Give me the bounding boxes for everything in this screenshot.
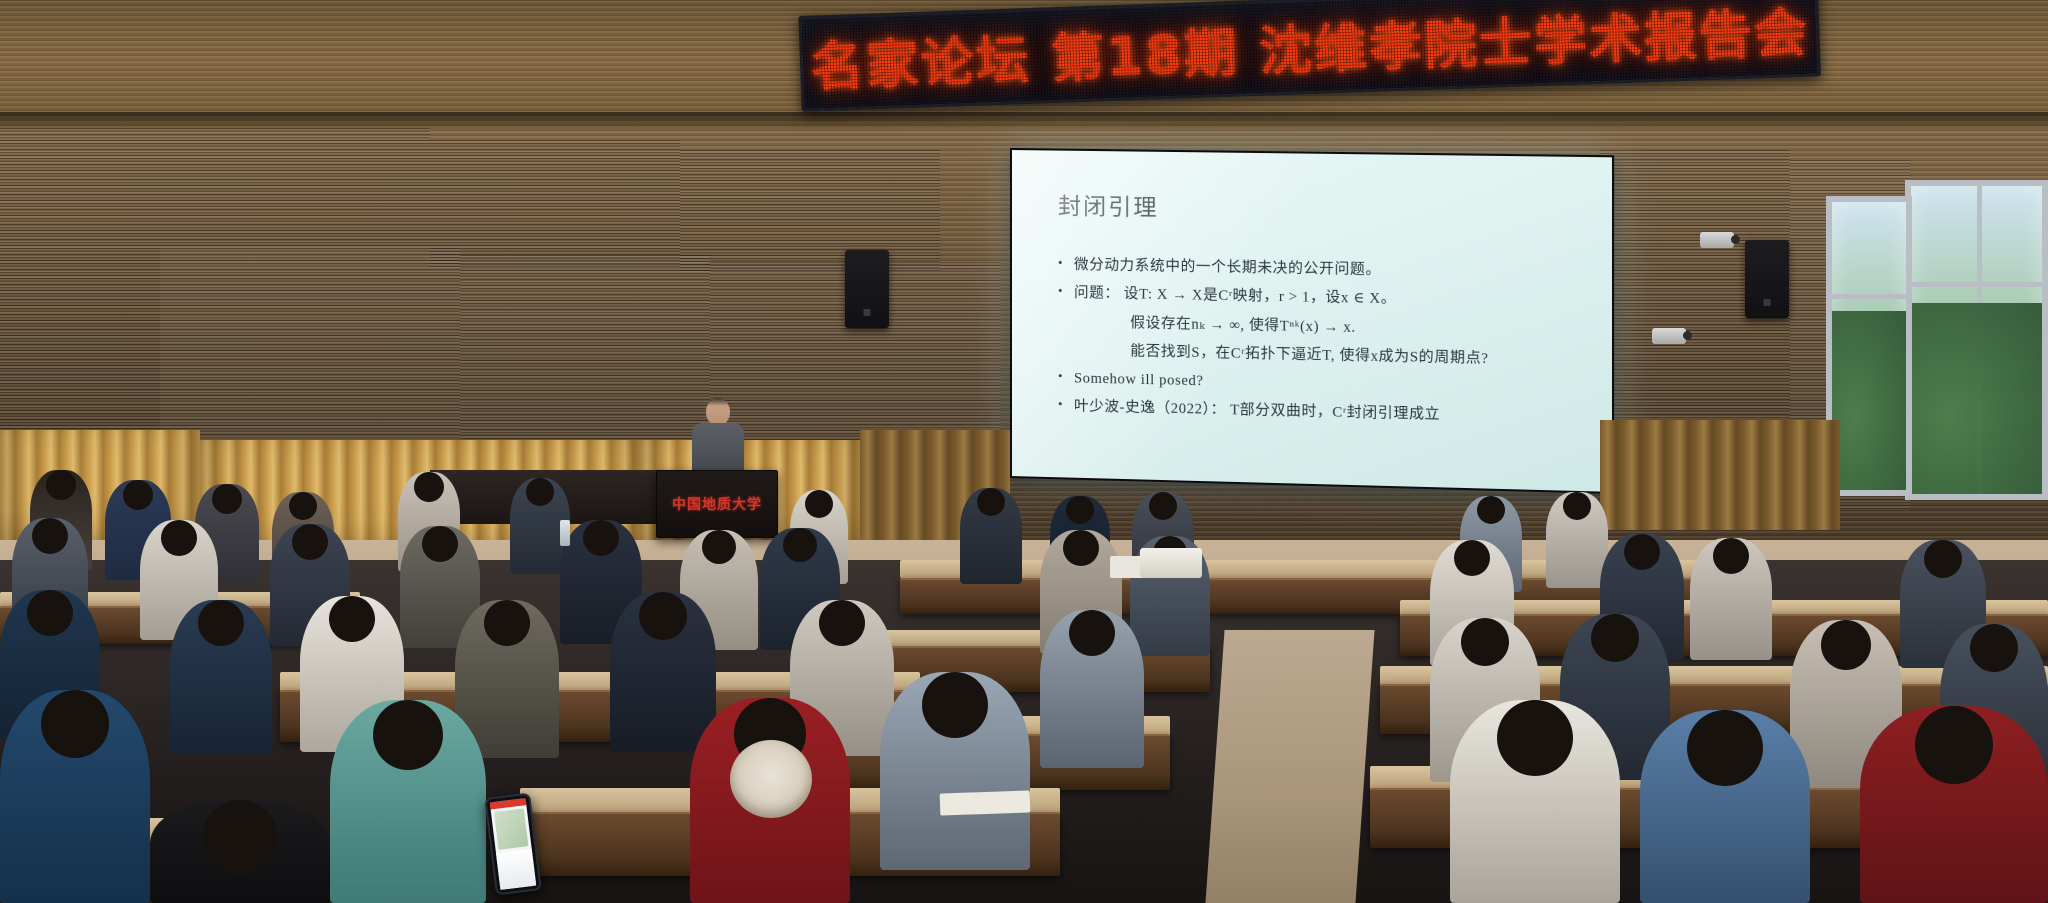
center-aisle bbox=[1205, 630, 1374, 903]
audience-head bbox=[1461, 618, 1509, 666]
audience-head bbox=[212, 484, 242, 514]
water-bottle bbox=[560, 520, 570, 546]
audience-head bbox=[1069, 610, 1115, 656]
wall-speaker-right bbox=[1745, 240, 1789, 318]
audience-head bbox=[203, 800, 277, 874]
presenter-head bbox=[706, 398, 730, 425]
audience-member bbox=[150, 800, 330, 903]
audience-head bbox=[583, 520, 619, 556]
audience-head bbox=[1497, 700, 1573, 776]
audience-head bbox=[1066, 496, 1094, 524]
audience-member bbox=[960, 488, 1022, 584]
audience-member bbox=[1860, 706, 2048, 903]
audience-member bbox=[880, 672, 1030, 870]
audience-member bbox=[1546, 492, 1608, 588]
cctv-camera bbox=[1700, 232, 1734, 248]
audience-head bbox=[1915, 706, 1993, 784]
audience-head bbox=[1563, 492, 1591, 520]
audience-head bbox=[1924, 540, 1962, 578]
audience-head bbox=[329, 596, 375, 642]
audience-head bbox=[702, 530, 736, 564]
curtain-right bbox=[1600, 420, 1840, 530]
phone-map-thumb bbox=[494, 808, 528, 849]
audience-head bbox=[805, 490, 833, 518]
phone-content-area bbox=[496, 849, 536, 890]
audience-member bbox=[1690, 538, 1772, 660]
audience-head bbox=[1687, 710, 1763, 786]
audience-head bbox=[1821, 620, 1871, 670]
audience-head bbox=[922, 672, 988, 738]
audience-head bbox=[1149, 492, 1177, 520]
audience-head bbox=[422, 526, 458, 562]
audience-member bbox=[170, 600, 272, 754]
wall-panel-dark-1 bbox=[0, 128, 430, 248]
presenter bbox=[690, 398, 746, 478]
audience-head bbox=[41, 690, 109, 758]
audience-head bbox=[1713, 538, 1749, 574]
podium: 中国地质大学 bbox=[656, 470, 778, 538]
audience-head bbox=[414, 472, 444, 502]
audience-head bbox=[289, 492, 317, 520]
slide-bullet-list: 微分动力系统中的一个长期未决的公开问题。 问题： 设T: X → X是Cʳ映射，… bbox=[1058, 251, 1585, 434]
window-right-1 bbox=[1905, 180, 2048, 500]
window-foliage bbox=[1911, 303, 2042, 494]
audience-head bbox=[484, 600, 530, 646]
audience-head bbox=[27, 590, 73, 636]
audience-head bbox=[292, 524, 328, 560]
slide-title: 封闭引理 bbox=[1058, 187, 1585, 229]
audience-head bbox=[1624, 534, 1660, 570]
paper-bag bbox=[1140, 548, 1202, 578]
projection-screen[interactable]: 封闭引理 微分动力系统中的一个长期未决的公开问题。 问题： 设T: X → X是… bbox=[1010, 148, 1614, 494]
audience-head bbox=[198, 600, 244, 646]
audience-head bbox=[373, 700, 443, 770]
audience-head bbox=[977, 488, 1005, 516]
audience-head bbox=[1063, 530, 1099, 566]
audience-head bbox=[161, 520, 197, 556]
phone-screen bbox=[490, 798, 536, 890]
wall-panel-dark-3 bbox=[680, 150, 940, 272]
audience-member bbox=[610, 592, 716, 752]
projector-unit bbox=[1652, 328, 1686, 344]
wall-panel-dark-2 bbox=[430, 140, 680, 268]
wall-speaker-left bbox=[845, 250, 889, 328]
audience-head bbox=[32, 518, 68, 554]
audience-member bbox=[330, 700, 486, 903]
audience-head bbox=[1591, 614, 1639, 662]
audience-head bbox=[1477, 496, 1505, 524]
audience-head bbox=[123, 480, 153, 510]
audience-head bbox=[783, 528, 817, 562]
podium-sign-text: 中国地质大学 bbox=[672, 494, 762, 514]
lecture-hall-scene: 名家论坛 第18期 沈维孝院士学术报告会 封闭引理 微分动力系统中的一个长期未决… bbox=[0, 0, 2048, 903]
audience-head bbox=[1970, 624, 2018, 672]
audience-head bbox=[46, 470, 76, 500]
audience-head bbox=[526, 478, 554, 506]
window-mullion-h bbox=[1832, 294, 1906, 299]
audience-member bbox=[1450, 700, 1620, 903]
audience-head bbox=[819, 600, 865, 646]
tshirt-mask-graphic bbox=[730, 740, 812, 818]
audience-member bbox=[1040, 610, 1144, 768]
audience-head bbox=[1454, 540, 1490, 576]
paper-sheet bbox=[940, 790, 1031, 815]
audience-member bbox=[1640, 710, 1810, 903]
window-foliage bbox=[1832, 311, 1906, 490]
audience-head bbox=[639, 592, 687, 640]
audience-member bbox=[0, 690, 150, 903]
